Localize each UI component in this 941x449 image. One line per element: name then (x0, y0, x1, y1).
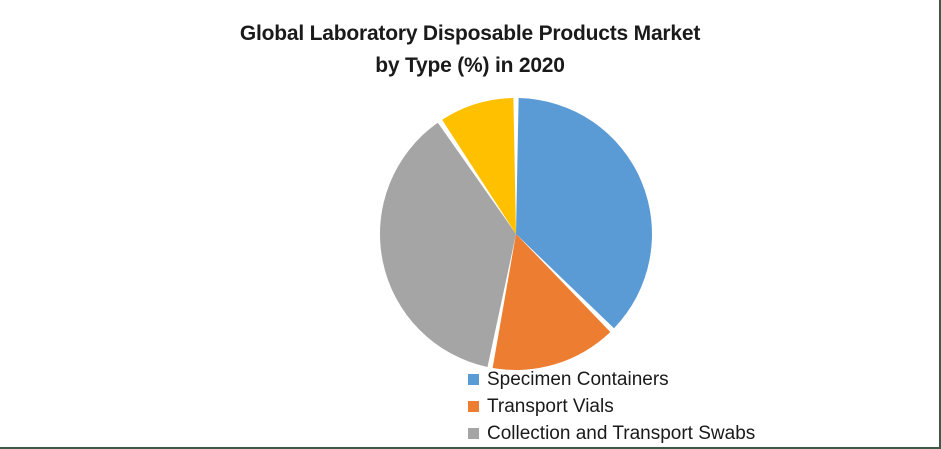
chart-title: Global Laboratory Disposable Products Ma… (90, 18, 850, 82)
legend-swatch-icon (468, 401, 479, 412)
legend-item-label: Collection and Transport Swabs (487, 420, 755, 447)
legend-item[interactable]: Transport Vials (468, 393, 938, 420)
pie-slice-group (380, 98, 652, 370)
chart-legend: Specimen ContainersTransport VialsCollec… (468, 366, 938, 447)
legend-item[interactable]: Specimen Containers (468, 366, 938, 393)
pie-chart-svg (378, 96, 654, 372)
legend-item[interactable]: Collection and Transport Swabs (468, 420, 938, 447)
legend-item-label: Transport Vials (487, 393, 614, 420)
legend-item-label: Specimen Containers (487, 366, 669, 393)
chart-title-line-2: by Type (%) in 2020 (90, 50, 850, 82)
chart-title-line-1: Global Laboratory Disposable Products Ma… (90, 18, 850, 50)
pie-chart (378, 96, 654, 372)
chart-figure: Global Laboratory Disposable Products Ma… (0, 0, 941, 449)
legend-swatch-icon (468, 428, 479, 439)
legend-swatch-icon (468, 374, 479, 385)
